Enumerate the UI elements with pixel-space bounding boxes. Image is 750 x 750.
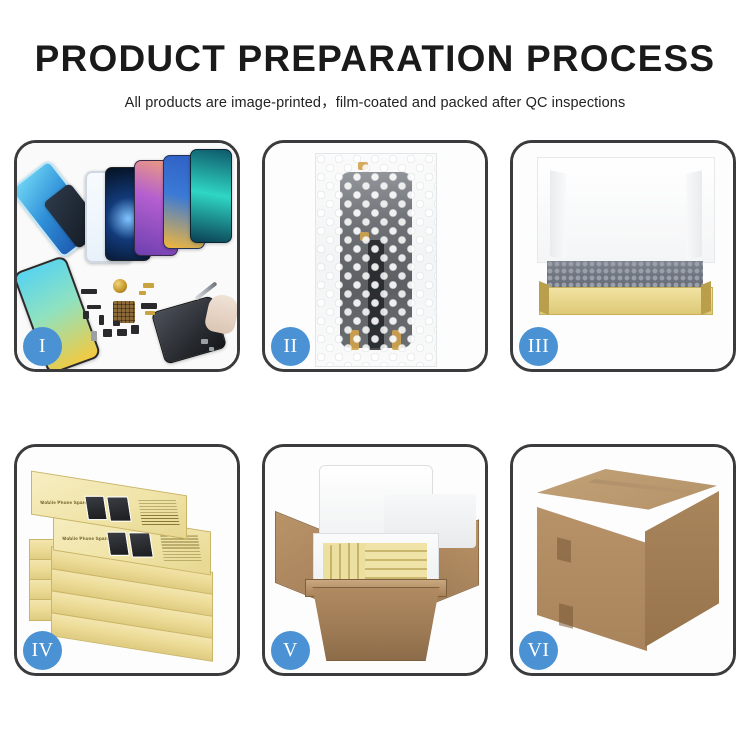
bubble-wrap-bag bbox=[315, 153, 437, 367]
sealed-carton bbox=[529, 469, 725, 655]
carton-tape-upper bbox=[557, 537, 571, 562]
component-gold-1 bbox=[143, 283, 154, 288]
page-title: PRODUCT PREPARATION PROCESS bbox=[0, 40, 750, 79]
page-header: PRODUCT PREPARATION PROCESS All products… bbox=[0, 0, 750, 112]
box-window-2a bbox=[106, 532, 130, 556]
component-misc-1 bbox=[113, 321, 120, 326]
lid-flap-right bbox=[686, 170, 702, 259]
box-base-front-panel bbox=[539, 287, 713, 315]
foam-cooler-lid bbox=[319, 465, 433, 539]
box-edge-left bbox=[539, 281, 549, 315]
step-panel-4[interactable]: Mobile Phone Spare Parts Mobile Phone Sp… bbox=[14, 444, 240, 676]
process-step-grid: I II III bbox=[14, 140, 736, 676]
step-panel-6[interactable]: VI bbox=[510, 444, 736, 676]
carton-tape-lower bbox=[559, 603, 573, 628]
lid-flap-left bbox=[550, 170, 566, 259]
page-subtitle: All products are image-printed，film-coat… bbox=[0, 91, 750, 112]
step-badge-5: V bbox=[271, 631, 310, 670]
speaker-coin-part bbox=[113, 279, 127, 293]
box-lid-open bbox=[537, 157, 715, 263]
component-button bbox=[131, 325, 139, 334]
chip-grid-part bbox=[113, 301, 135, 323]
component-bar-3 bbox=[83, 311, 89, 319]
step-panel-1[interactable]: I bbox=[14, 140, 240, 372]
component-bar-1 bbox=[81, 289, 97, 294]
component-gold-2 bbox=[139, 291, 146, 295]
carton-left-face bbox=[537, 501, 647, 651]
box-spec-lines-1 bbox=[138, 500, 180, 526]
carton-right-face bbox=[645, 491, 719, 647]
step-panel-2[interactable]: II bbox=[262, 140, 488, 372]
box-stack: Mobile Phone Spare Parts Mobile Phone Sp… bbox=[25, 463, 237, 663]
step-badge-3: III bbox=[519, 327, 558, 366]
carton-body bbox=[307, 587, 445, 661]
component-bar-2 bbox=[87, 305, 101, 309]
box-window-2b bbox=[128, 532, 154, 557]
component-bar-4 bbox=[99, 315, 104, 325]
box-spec-lines-2 bbox=[160, 536, 202, 562]
step-panel-3[interactable]: III bbox=[510, 140, 736, 372]
component-flex-1 bbox=[141, 303, 157, 309]
component-sim-tray bbox=[91, 331, 97, 341]
box-window-1b bbox=[106, 496, 132, 521]
component-screw-1 bbox=[201, 339, 208, 344]
step-badge-4: IV bbox=[23, 631, 62, 670]
component-speaker bbox=[103, 329, 112, 337]
component-camera bbox=[117, 329, 127, 336]
component-screw-2 bbox=[209, 347, 214, 351]
box-window-1a bbox=[84, 496, 108, 520]
step-badge-6: VI bbox=[519, 631, 558, 670]
step-panel-5[interactable]: V bbox=[262, 444, 488, 676]
box-edge-right bbox=[701, 281, 711, 315]
bubble-texture bbox=[316, 154, 436, 366]
phone-teal-swirl bbox=[190, 149, 232, 243]
component-flex-2 bbox=[145, 311, 155, 315]
step-badge-2: II bbox=[271, 327, 310, 366]
step-badge-1: I bbox=[23, 327, 62, 366]
